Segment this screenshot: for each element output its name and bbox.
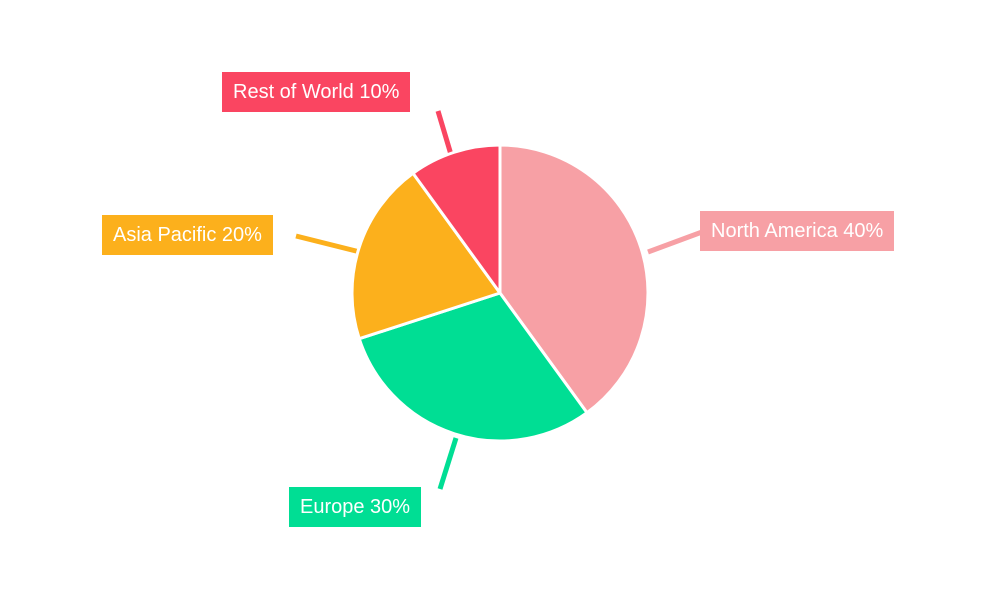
pie-label-north-america[interactable]: North America 40% (700, 211, 894, 251)
pie-label-europe-text: Europe 30% (300, 496, 410, 518)
pie-label-asia-pacific[interactable]: Asia Pacific 20% (102, 215, 273, 255)
leader-line-europe (440, 438, 456, 489)
pie-label-asia-pacific-text: Asia Pacific 20% (113, 224, 262, 246)
pie-chart-figure: North America 40%Europe 30%Asia Pacific … (0, 0, 1000, 600)
pie-label-rest-of-world[interactable]: Rest of World 10% (222, 72, 410, 112)
leader-line-north-america (648, 232, 702, 252)
leader-line-asia-pacific (296, 236, 360, 252)
pie-label-europe[interactable]: Europe 30% (289, 487, 421, 527)
pie-label-rest-of-world-text: Rest of World 10% (233, 81, 399, 103)
pie-slices-group: North America 40%Europe 30%Asia Pacific … (352, 145, 648, 441)
pie-label-north-america-text: North America 40% (711, 220, 883, 242)
pie-chart-canvas: North America 40%Europe 30%Asia Pacific … (0, 0, 1000, 600)
